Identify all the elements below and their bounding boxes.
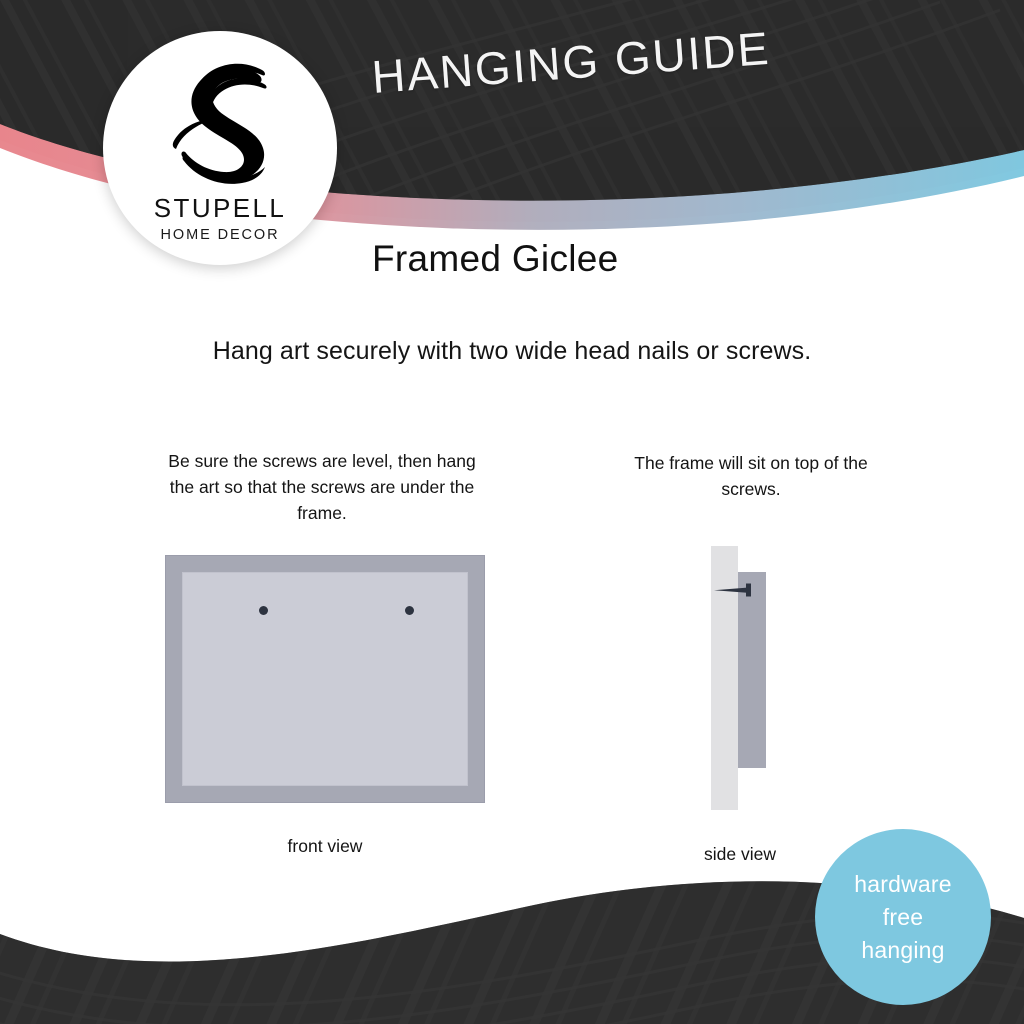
stupell-swoosh-logo-icon <box>162 57 278 185</box>
brand-tagline: HOME DECOR <box>161 228 280 243</box>
side-view-label: side view <box>660 844 820 865</box>
badge-line-2: free <box>883 901 923 934</box>
screw-dot-right-icon <box>405 606 414 615</box>
front-view-label: front view <box>165 836 485 857</box>
front-view-art-area <box>182 572 468 786</box>
brand-name: STUPELL <box>154 195 286 221</box>
screw-dot-left-icon <box>259 606 268 615</box>
nail-icon <box>714 583 760 597</box>
product-type-heading: Framed Giclee <box>372 238 619 280</box>
front-view-frame-diagram <box>165 555 485 803</box>
front-view-caption: Be sure the screws are level, then hang … <box>161 448 483 526</box>
lead-instruction: Hang art securely with two wide head nai… <box>0 337 1024 366</box>
hardware-free-hanging-badge: hardware free hanging <box>815 829 991 1005</box>
hanging-guide-page: STUPELL HOME DECOR HANGING GUIDE Framed … <box>0 0 1024 1024</box>
brand-logo-badge: STUPELL HOME DECOR <box>103 31 337 265</box>
side-view-frame <box>738 572 766 768</box>
badge-line-3: hanging <box>861 934 944 967</box>
side-view-caption: The frame will sit on top of the screws. <box>605 450 897 502</box>
badge-line-1: hardware <box>854 868 952 901</box>
